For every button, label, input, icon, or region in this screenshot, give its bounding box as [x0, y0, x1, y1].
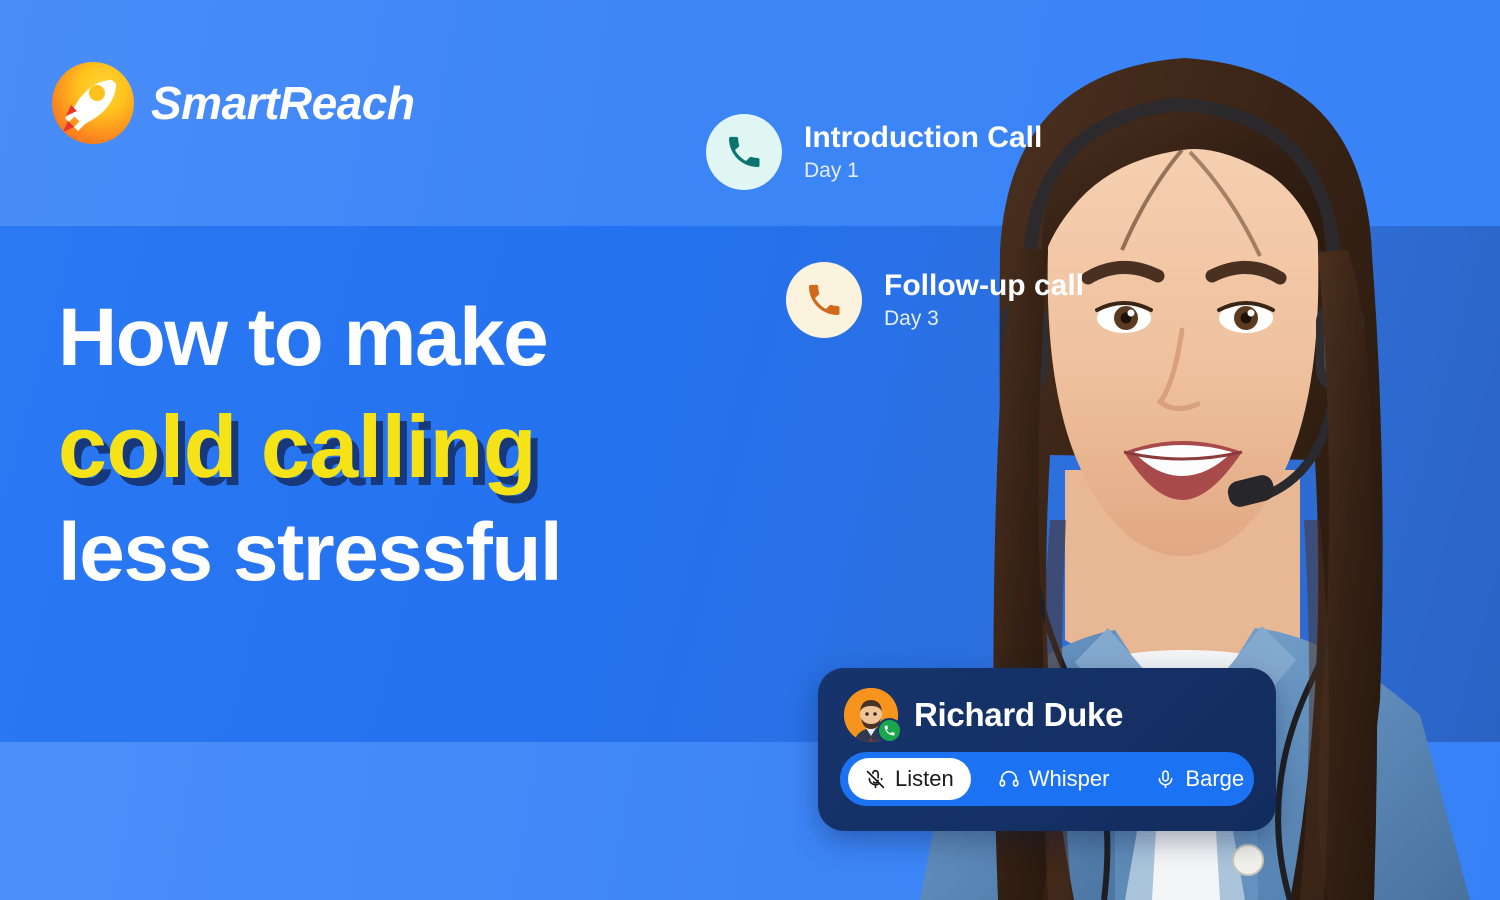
phone-icon: [706, 114, 782, 190]
page-title: How to make cold calling less stressful: [58, 296, 818, 595]
caller-name: Richard Duke: [914, 697, 1123, 733]
whisper-button[interactable]: Whisper: [981, 758, 1127, 800]
step-title: Follow-up call: [884, 269, 1084, 304]
step-title: Introduction Call: [804, 121, 1042, 156]
mic-off-icon: [865, 769, 886, 790]
rocket-icon: [52, 62, 134, 144]
headset-icon: [998, 768, 1020, 790]
step-text: Follow-up call Day 3: [884, 269, 1084, 331]
whisper-label: Whisper: [1029, 766, 1110, 792]
barge-button[interactable]: Barge: [1138, 758, 1261, 800]
phone-icon: [877, 718, 902, 743]
headline-line-3: less stressful: [58, 511, 818, 595]
call-action-bar: Listen Whisper: [840, 752, 1254, 806]
headline-line-1: How to make: [58, 296, 818, 380]
step-introduction-call: Introduction Call Day 1: [706, 114, 1042, 190]
step-day: Day 1: [804, 158, 1042, 183]
avatar: [844, 688, 898, 742]
step-day: Day 3: [884, 306, 1084, 331]
listen-button[interactable]: Listen: [848, 758, 971, 800]
caller-header: Richard Duke: [844, 688, 1254, 742]
step-follow-up-call: Follow-up call Day 3: [786, 262, 1084, 338]
listen-label: Listen: [895, 766, 954, 792]
brand-name: SmartReach: [151, 80, 414, 126]
hero-banner: SmartReach Introduction Call Day 1 Follo…: [0, 0, 1500, 900]
step-text: Introduction Call Day 1: [804, 121, 1042, 183]
headline-accent: cold calling: [58, 402, 818, 492]
barge-label: Barge: [1185, 766, 1244, 792]
brand-logo[interactable]: SmartReach: [52, 62, 414, 144]
live-call-card: Richard Duke Listen: [818, 668, 1276, 831]
mic-icon: [1155, 769, 1176, 790]
